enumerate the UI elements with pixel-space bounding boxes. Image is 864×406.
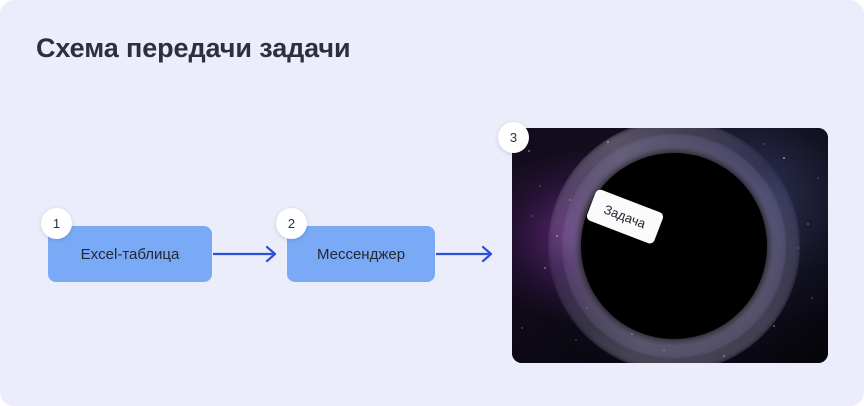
step-badge-1-number: 1 [53, 216, 60, 231]
flow-node-messenger-label: Мессенджер [317, 246, 405, 263]
arrow-excel-to-messenger [213, 245, 283, 263]
flow-node-messenger[interactable]: Мессенджер [287, 226, 435, 282]
step-badge-2-number: 2 [288, 216, 295, 231]
flow-node-excel-label: Excel-таблица [81, 246, 180, 263]
arrow-messenger-to-blackhole [436, 245, 498, 263]
page-title: Схема передачи задачи [36, 33, 350, 64]
diagram-canvas: Схема передачи задачи Excel-таблица 1 Ме… [0, 0, 864, 406]
step-badge-2: 2 [276, 208, 307, 239]
flow-node-excel[interactable]: Excel-таблица [48, 226, 212, 282]
event-horizon [581, 153, 767, 339]
black-hole-image [512, 128, 828, 363]
step-badge-3: 3 [498, 122, 529, 153]
step-badge-3-number: 3 [510, 130, 517, 145]
step-badge-1: 1 [41, 208, 72, 239]
